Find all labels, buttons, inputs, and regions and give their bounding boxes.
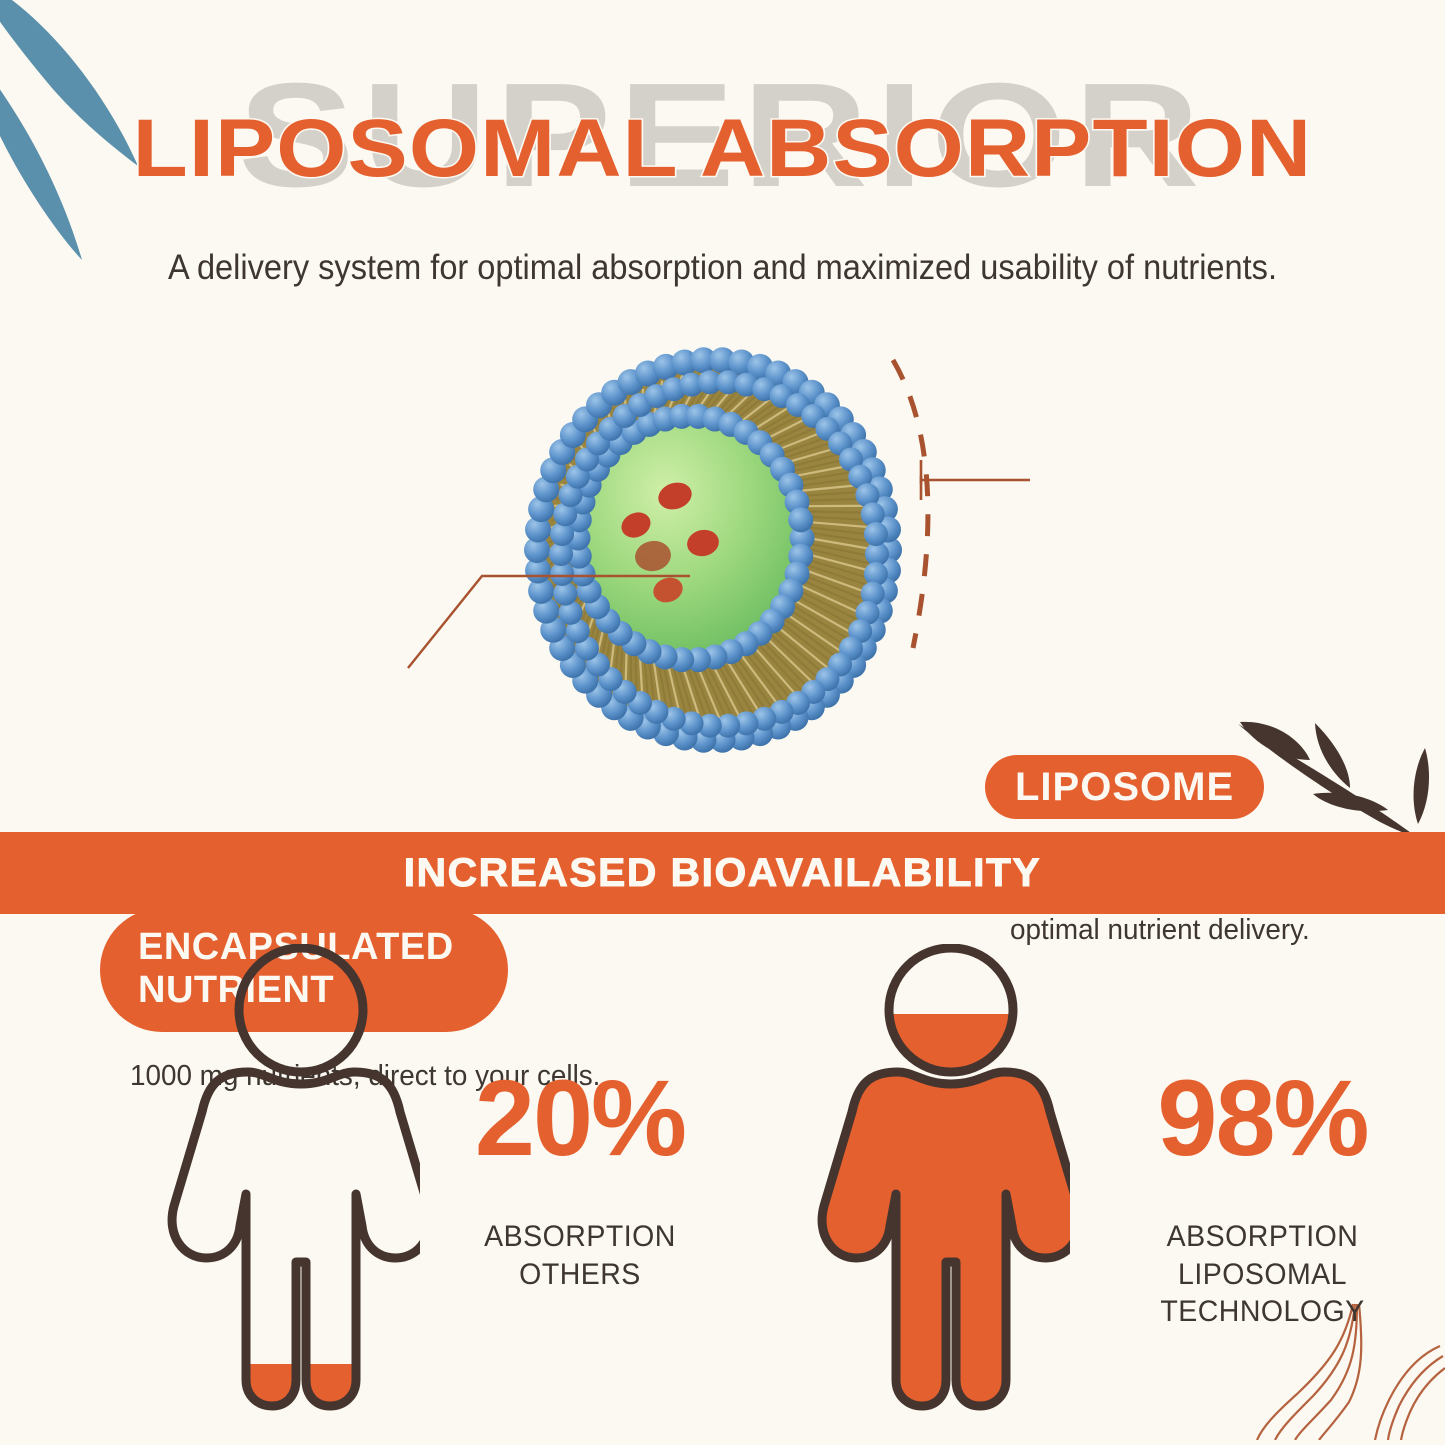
connector-line-liposome — [855, 348, 1095, 678]
bioavailability-banner-text: INCREASED BIOAVAILABILITY — [404, 851, 1041, 896]
stat-group-liposomal: 98% ABSORPTION LIPOSOMAL TECHNOLOGY — [790, 914, 1445, 1445]
stat-percent-others: 20% — [440, 1064, 720, 1172]
stat-label-liposomal-line2: LIPOSOMAL TECHNOLOGY — [1089, 1256, 1436, 1331]
label-pill-liposome[interactable]: LIPOSOME — [985, 755, 1264, 819]
page-title: LIPOSOMAL ABSORPTION — [0, 108, 1445, 190]
connector-line-encapsulated — [390, 478, 710, 678]
person-figure-others — [160, 944, 420, 1419]
infographic-canvas: SUPERIOR LIPOSOMAL ABSORPTION A delivery… — [0, 0, 1445, 1445]
page-subtitle: A delivery system for optimal absorption… — [51, 248, 1395, 288]
stat-text-others: 20% ABSORPTION OTHERS — [440, 1064, 720, 1293]
header-section: SUPERIOR LIPOSOMAL ABSORPTION A delivery… — [0, 0, 1445, 310]
label-pill-liposome-text: LIPOSOME — [1015, 765, 1234, 810]
person-figure-liposomal — [810, 944, 1070, 1419]
bioavailability-banner: INCREASED BIOAVAILABILITY — [0, 832, 1445, 914]
stat-percent-liposomal: 98% — [1080, 1064, 1445, 1172]
stat-label-liposomal-line1: ABSORPTION — [1167, 1220, 1359, 1253]
stats-section: 20% ABSORPTION OTHERS — [0, 914, 1445, 1445]
liposome-diagram-section: LIPOSOME Double-layer protection for opt… — [0, 330, 1445, 830]
stat-group-others: 20% ABSORPTION OTHERS — [140, 914, 740, 1445]
stat-label-others-line1: ABSORPTION — [484, 1220, 676, 1253]
stat-label-others: ABSORPTION OTHERS — [447, 1218, 713, 1293]
stat-label-liposomal: ABSORPTION LIPOSOMAL TECHNOLOGY — [1089, 1218, 1436, 1331]
stat-text-liposomal: 98% ABSORPTION LIPOSOMAL TECHNOLOGY — [1080, 1064, 1445, 1331]
stat-label-others-line2: OTHERS — [447, 1256, 713, 1294]
